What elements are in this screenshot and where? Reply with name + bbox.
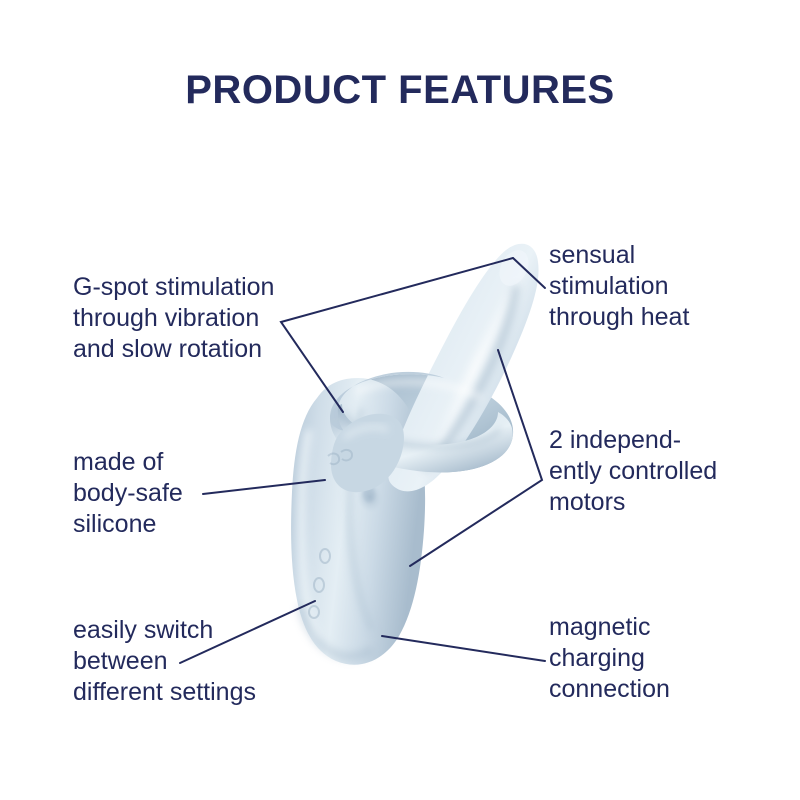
product-illustration: [0, 0, 800, 800]
product-features-infographic: PRODUCT FEATURES: [0, 0, 800, 800]
